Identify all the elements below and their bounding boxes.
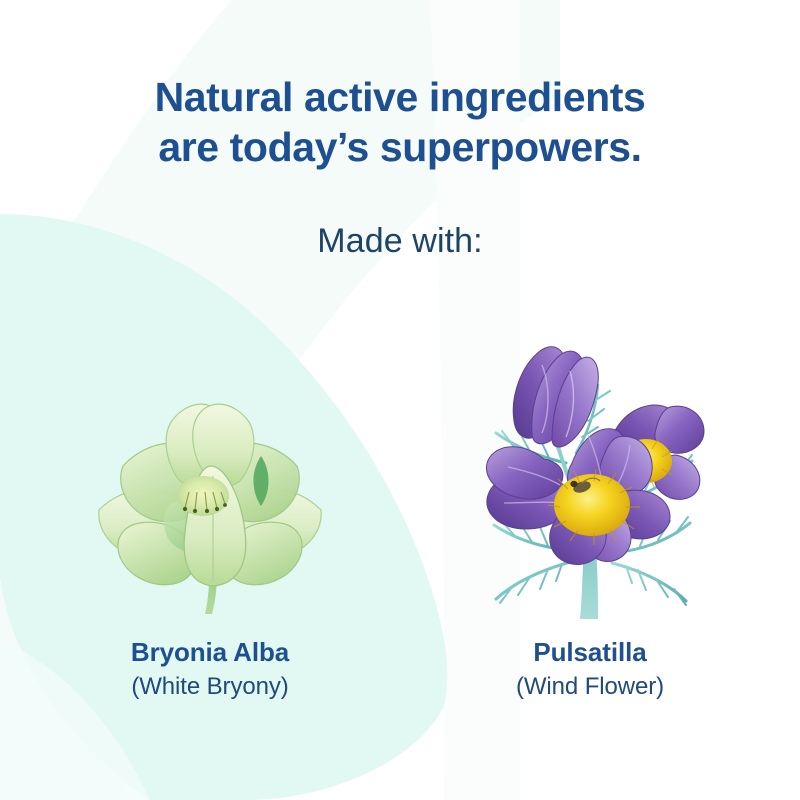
ingredient-list: Bryonia Alba (White Bryony) bbox=[0, 320, 800, 700]
ingredient-card-pulsatilla: Pulsatilla (Wind Flower) bbox=[410, 337, 770, 700]
made-with-label: Made with: bbox=[0, 222, 800, 261]
pulsatilla-front-center bbox=[554, 474, 630, 536]
ingredient-card-bryonia-alba: Bryonia Alba (White Bryony) bbox=[30, 372, 390, 700]
ingredient-common-name: (Wind Flower) bbox=[516, 674, 664, 700]
pulsatilla-art-wrap bbox=[460, 337, 720, 622]
pasque-flower-icon bbox=[470, 337, 710, 622]
ingredient-name: Bryonia Alba bbox=[131, 638, 289, 667]
promo-poster: Natural active ingredients are today’s s… bbox=[0, 0, 800, 800]
white-bryony-flower-icon bbox=[85, 392, 335, 622]
ingredient-common-name: (White Bryony) bbox=[131, 674, 288, 700]
page-title: Natural active ingredients are today’s s… bbox=[0, 72, 800, 172]
ingredient-name: Pulsatilla bbox=[533, 638, 646, 667]
bryonia-art-wrap bbox=[80, 372, 340, 622]
